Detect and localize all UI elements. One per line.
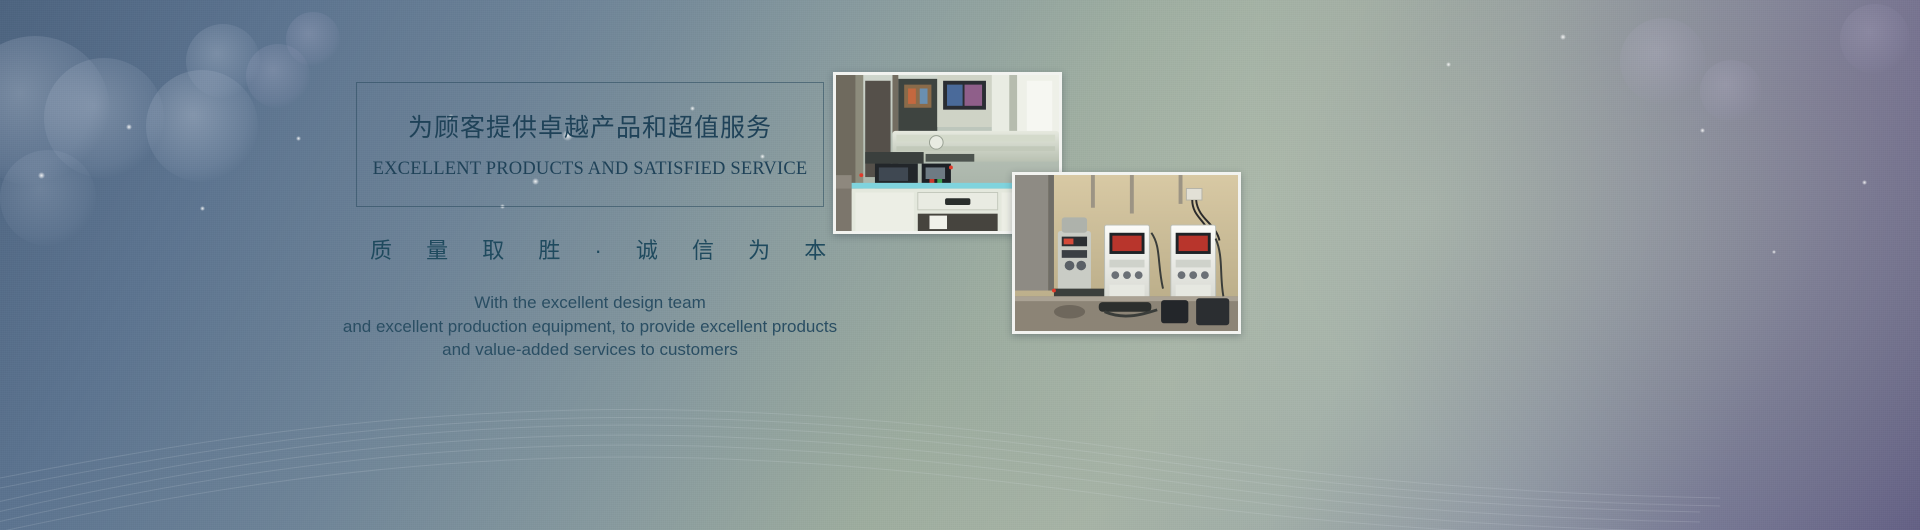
promo-banner: 为顾客提供卓越产品和超值服务 EXCELLENT PRODUCTS AND SA…	[0, 0, 1920, 530]
bokeh-circle	[286, 12, 340, 66]
wave-decoration	[0, 310, 1920, 530]
bokeh-circle	[1620, 18, 1706, 104]
sparkle-dot	[38, 172, 45, 179]
bokeh-circle	[44, 58, 164, 178]
sparkle-dot	[1560, 34, 1566, 40]
title-frame: 为顾客提供卓越产品和超值服务 EXCELLENT PRODUCTS AND SA…	[356, 82, 824, 207]
sparkle-dot	[1862, 180, 1867, 185]
bokeh-circle	[0, 36, 110, 186]
bokeh-circle	[246, 44, 310, 108]
headline-chinese: 为顾客提供卓越产品和超值服务	[408, 115, 772, 143]
slogan-chinese: 质 量 取 胜 · 诚 信 为 本	[356, 233, 824, 265]
sparkle-dot	[296, 136, 301, 141]
headline-english: EXCELLENT PRODUCTS AND SATISFIED SERVICE	[373, 159, 808, 180]
sparkle-dot	[1700, 128, 1705, 133]
bokeh-circle	[0, 150, 96, 246]
factory-equipment-photo-2	[1012, 172, 1241, 334]
sparkle-dot	[1772, 250, 1776, 254]
sparkle-dot	[200, 206, 205, 211]
description-line-3: and value-added services to customers	[310, 338, 870, 362]
banner-text-block: 为顾客提供卓越产品和超值服务 EXCELLENT PRODUCTS AND SA…	[356, 82, 824, 362]
description-line-2: and excellent production equipment, to p…	[310, 315, 870, 339]
bokeh-circle	[1700, 60, 1762, 122]
bokeh-circle	[186, 24, 260, 98]
description-paragraph: With the excellent design team and excel…	[310, 291, 870, 362]
sparkle-dot	[1446, 62, 1451, 67]
sparkle-dot	[126, 124, 132, 130]
description-line-1: With the excellent design team	[310, 291, 870, 315]
bokeh-circle	[146, 70, 258, 182]
bokeh-circle	[1840, 4, 1910, 74]
